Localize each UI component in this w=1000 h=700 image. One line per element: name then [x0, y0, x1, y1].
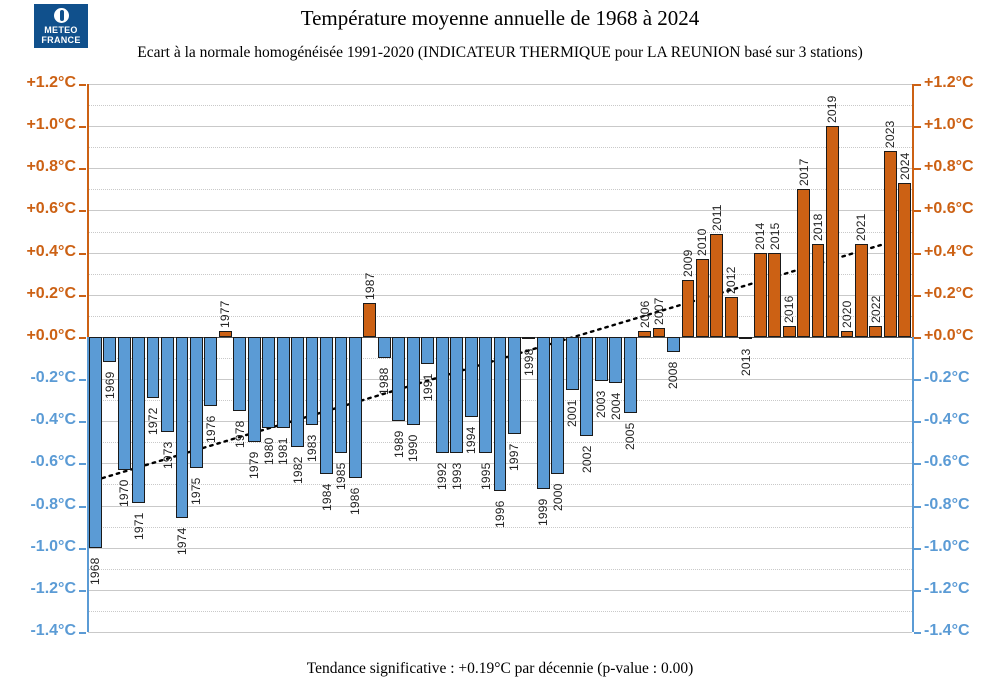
bar-1993[interactable] — [450, 337, 463, 453]
bar-label-2017: 2017 — [797, 152, 811, 186]
bar-label-1971: 1971 — [132, 506, 146, 540]
gridline-minor — [88, 189, 912, 190]
y-tick-left — [79, 337, 86, 339]
bar-1985[interactable] — [335, 337, 348, 453]
bar-label-2022: 2022 — [869, 289, 883, 323]
bar-1998[interactable] — [522, 337, 535, 340]
y-axis-label-right: -0.4°C — [924, 411, 1000, 429]
bar-2009[interactable] — [682, 280, 695, 337]
gridline-minor — [88, 569, 912, 570]
y-axis-label-right: +0.8°C — [924, 158, 1000, 176]
y-tick-left — [79, 379, 86, 381]
y-axis-label-right: +0.6°C — [924, 200, 1000, 218]
bar-label-1981: 1981 — [276, 431, 290, 465]
bar-label-1990: 1990 — [406, 428, 420, 462]
bar-1984[interactable] — [320, 337, 333, 474]
bar-1983[interactable] — [306, 337, 319, 426]
bar-label-2012: 2012 — [724, 260, 738, 294]
bar-1982[interactable] — [291, 337, 304, 447]
bar-label-1977: 1977 — [218, 294, 232, 328]
bar-1995[interactable] — [479, 337, 492, 453]
bar-1990[interactable] — [407, 337, 420, 426]
y-tick-right — [914, 210, 921, 212]
bar-2011[interactable] — [710, 234, 723, 337]
y-axis-label-left: +0.8°C — [0, 158, 76, 176]
bar-label-1979: 1979 — [247, 445, 261, 479]
bar-label-1999: 1999 — [536, 492, 550, 526]
bar-label-2013: 2013 — [739, 342, 753, 376]
bar-label-2009: 2009 — [681, 243, 695, 277]
bar-1999[interactable] — [537, 337, 550, 489]
bar-label-2001: 2001 — [565, 393, 579, 427]
gridline — [88, 632, 912, 633]
y-tick-left — [79, 590, 86, 592]
bar-1977[interactable] — [219, 331, 232, 337]
bar-2001[interactable] — [566, 337, 579, 390]
y-axis-label-left: -0.8°C — [0, 496, 76, 514]
bar-2020[interactable] — [841, 331, 854, 337]
y-axis-label-right: +1.2°C — [924, 74, 1000, 92]
bar-label-2018: 2018 — [811, 207, 825, 241]
bar-label-2021: 2021 — [854, 207, 868, 241]
bar-label-1970: 1970 — [117, 473, 131, 507]
bar-label-1978: 1978 — [233, 414, 247, 448]
y-axis-label-right: -1.4°C — [924, 622, 1000, 640]
y-axis-label-left: -0.2°C — [0, 369, 76, 387]
bar-2010[interactable] — [696, 259, 709, 337]
bar-label-2005: 2005 — [623, 416, 637, 450]
bar-1973[interactable] — [161, 337, 174, 432]
bar-2024[interactable] — [898, 183, 911, 337]
bar-2022[interactable] — [869, 326, 882, 337]
y-axis-label-left: -1.2°C — [0, 580, 76, 598]
y-axis-label-left: -0.4°C — [0, 411, 76, 429]
bar-label-2008: 2008 — [666, 355, 680, 389]
bar-1996[interactable] — [494, 337, 507, 491]
bar-1979[interactable] — [248, 337, 261, 442]
bar-1968[interactable] — [89, 337, 102, 548]
gridline — [88, 126, 912, 127]
y-axis-label-right: +0.4°C — [924, 243, 1000, 261]
bar-1976[interactable] — [204, 337, 217, 407]
bar-2021[interactable] — [855, 244, 868, 337]
bar-label-1973: 1973 — [161, 435, 175, 469]
bar-label-2007: 2007 — [652, 291, 666, 325]
bar-1978[interactable] — [233, 337, 246, 411]
gridline-minor — [88, 147, 912, 148]
bar-label-1987: 1987 — [363, 266, 377, 300]
y-axis-label-right: -0.8°C — [924, 496, 1000, 514]
bar-label-2023: 2023 — [883, 114, 897, 148]
gridline-minor — [88, 274, 912, 275]
bar-2014[interactable] — [754, 253, 767, 337]
y-axis-label-right: +0.0°C — [924, 327, 1000, 345]
logo-line-2: FRANCE — [41, 35, 80, 45]
y-axis-label-right: +0.2°C — [924, 285, 1000, 303]
bar-1989[interactable] — [392, 337, 405, 421]
bar-label-1998: 1998 — [522, 342, 536, 376]
chart-caption: Tendance significative : +0.19°C par déc… — [0, 660, 1000, 678]
bar-label-1968: 1968 — [88, 551, 102, 585]
y-tick-right — [914, 126, 921, 128]
bar-label-2003: 2003 — [594, 384, 608, 418]
bar-1981[interactable] — [277, 337, 290, 428]
y-tick-right — [914, 253, 921, 255]
y-axis-right-negative — [912, 337, 914, 632]
y-axis-label-left: +0.2°C — [0, 285, 76, 303]
y-tick-right — [914, 379, 921, 381]
bar-label-2020: 2020 — [840, 294, 854, 328]
bar-label-1988: 1988 — [377, 361, 391, 395]
y-tick-right — [914, 506, 921, 508]
bar-1974[interactable] — [176, 337, 189, 518]
y-tick-left — [79, 168, 86, 170]
y-tick-left — [79, 126, 86, 128]
bar-2006[interactable] — [638, 331, 651, 337]
bar-label-2015: 2015 — [768, 216, 782, 250]
y-axis-left-positive — [87, 84, 89, 337]
y-axis-label-right: -0.2°C — [924, 369, 1000, 387]
y-tick-left — [79, 295, 86, 297]
bar-label-1980: 1980 — [262, 431, 276, 465]
bar-1988[interactable] — [378, 337, 391, 358]
y-tick-left — [79, 210, 86, 212]
y-axis-label-left: -1.4°C — [0, 622, 76, 640]
y-tick-right — [914, 337, 921, 339]
bar-label-1975: 1975 — [189, 471, 203, 505]
y-axis-label-right: -1.0°C — [924, 538, 1000, 556]
gridline — [88, 210, 912, 211]
y-axis-label-left: +1.0°C — [0, 116, 76, 134]
bar-1986[interactable] — [349, 337, 362, 478]
bar-2008[interactable] — [667, 337, 680, 352]
bar-2012[interactable] — [725, 297, 738, 337]
bar-2002[interactable] — [580, 337, 593, 436]
bar-label-1995: 1995 — [479, 456, 493, 490]
bar-2000[interactable] — [551, 337, 564, 474]
bar-2018[interactable] — [812, 244, 825, 337]
bar-label-1997: 1997 — [507, 437, 521, 471]
bar-1970[interactable] — [118, 337, 131, 470]
bar-2007[interactable] — [653, 328, 666, 336]
bar-label-2014: 2014 — [753, 216, 767, 250]
gridline — [88, 168, 912, 169]
y-tick-left — [79, 253, 86, 255]
bar-label-2004: 2004 — [609, 386, 623, 420]
bar-2017[interactable] — [797, 189, 810, 337]
gridline-minor — [88, 611, 912, 612]
bar-label-2006: 2006 — [638, 294, 652, 328]
bar-2005[interactable] — [624, 337, 637, 413]
y-tick-right — [914, 632, 921, 634]
chart-title: Température moyenne annuelle de 1968 à 2… — [0, 6, 1000, 31]
bar-label-1984: 1984 — [320, 477, 334, 511]
y-axis-label-left: -0.6°C — [0, 453, 76, 471]
bar-label-1996: 1996 — [493, 494, 507, 528]
bar-label-2011: 2011 — [710, 197, 724, 231]
y-tick-left — [79, 84, 86, 86]
bar-label-1983: 1983 — [305, 428, 319, 462]
y-tick-right — [914, 168, 921, 170]
bar-2004[interactable] — [609, 337, 622, 383]
y-tick-right — [914, 84, 921, 86]
y-axis-label-left: -1.0°C — [0, 538, 76, 556]
bar-label-2016: 2016 — [782, 289, 796, 323]
bar-1969[interactable] — [103, 337, 116, 362]
bar-label-1972: 1972 — [146, 401, 160, 435]
y-tick-left — [79, 421, 86, 423]
y-axis-label-right: +1.0°C — [924, 116, 1000, 134]
bar-label-1994: 1994 — [464, 420, 478, 454]
bar-1987[interactable] — [363, 303, 376, 337]
bar-2013[interactable] — [739, 337, 752, 340]
y-tick-left — [79, 506, 86, 508]
bar-label-1993: 1993 — [450, 456, 464, 490]
y-axis-label-left: +0.6°C — [0, 200, 76, 218]
y-axis-label-left: +1.2°C — [0, 74, 76, 92]
bar-1980[interactable] — [262, 337, 275, 428]
gridline-minor — [88, 105, 912, 106]
bar-label-1974: 1974 — [175, 521, 189, 555]
y-axis-label-left: +0.0°C — [0, 327, 76, 345]
bar-2003[interactable] — [595, 337, 608, 381]
bar-2019[interactable] — [826, 126, 839, 337]
bar-label-1985: 1985 — [334, 456, 348, 490]
y-tick-left — [79, 632, 86, 634]
bar-label-2010: 2010 — [695, 222, 709, 256]
y-axis-label-right: -0.6°C — [924, 453, 1000, 471]
bar-1992[interactable] — [436, 337, 449, 453]
bar-label-1992: 1992 — [435, 456, 449, 490]
y-tick-right — [914, 548, 921, 550]
bar-2015[interactable] — [768, 253, 781, 337]
bar-label-2002: 2002 — [580, 439, 594, 473]
gridline-minor — [88, 232, 912, 233]
bar-label-1969: 1969 — [103, 365, 117, 399]
gridline — [88, 253, 912, 254]
bar-label-1982: 1982 — [291, 450, 305, 484]
bar-1991[interactable] — [421, 337, 434, 364]
bar-2016[interactable] — [783, 326, 796, 337]
bar-1994[interactable] — [465, 337, 478, 417]
y-axis-label-left: +0.4°C — [0, 243, 76, 261]
bar-label-1989: 1989 — [392, 424, 406, 458]
chart-subtitle: Ecart à la normale homogénéisée 1991-202… — [0, 44, 1000, 62]
bar-2023[interactable] — [884, 151, 897, 336]
bar-label-1986: 1986 — [348, 481, 362, 515]
bar-label-2024: 2024 — [898, 146, 912, 180]
y-axis-label-right: -1.2°C — [924, 580, 1000, 598]
bar-label-2019: 2019 — [825, 89, 839, 123]
bar-1997[interactable] — [508, 337, 521, 434]
bar-label-1991: 1991 — [421, 367, 435, 401]
bar-label-1976: 1976 — [204, 409, 218, 443]
gridline — [88, 84, 912, 85]
gridline — [88, 548, 912, 549]
bar-1972[interactable] — [147, 337, 160, 398]
gridline — [88, 590, 912, 591]
bar-1975[interactable] — [190, 337, 203, 468]
bar-label-2000: 2000 — [551, 477, 565, 511]
y-tick-right — [914, 463, 921, 465]
y-tick-right — [914, 421, 921, 423]
y-tick-right — [914, 295, 921, 297]
y-tick-right — [914, 590, 921, 592]
bar-1971[interactable] — [132, 337, 145, 504]
y-tick-left — [79, 463, 86, 465]
y-tick-left — [79, 548, 86, 550]
